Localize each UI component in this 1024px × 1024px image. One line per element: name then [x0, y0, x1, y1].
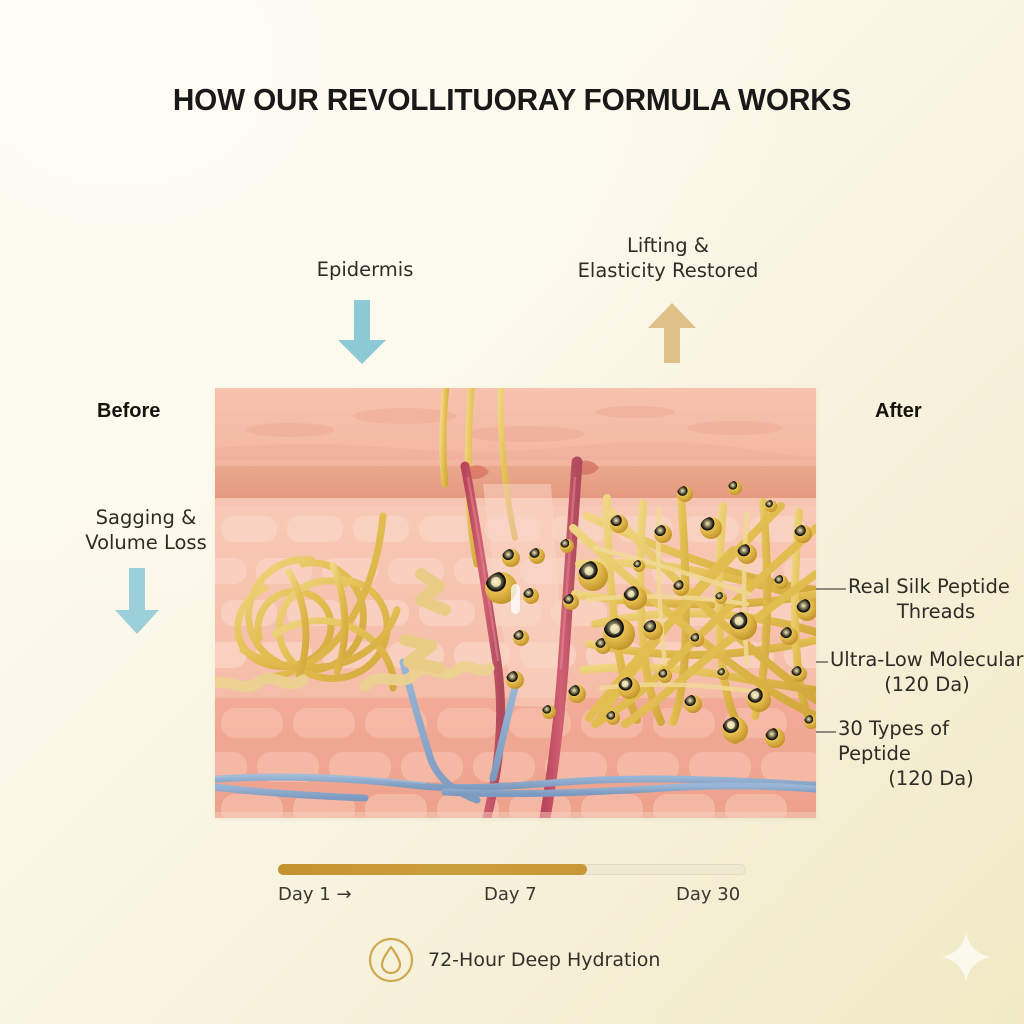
- timeline-track[interactable]: [278, 864, 746, 875]
- lifting-label-line2: Elasticity Restored: [578, 259, 759, 282]
- skin-cross-section-diagram: [215, 388, 816, 818]
- callout-1-line1: Real Silk Peptide: [848, 575, 1010, 598]
- timeline-label-day30: Day 30: [676, 884, 740, 905]
- timeline-label-day1: Day 1 →: [278, 884, 352, 905]
- callout-1-line2: Threads: [848, 599, 1024, 624]
- lifting-label: Lifting & Elasticity Restored: [573, 233, 763, 283]
- lifting-label-line1: Lifting &: [627, 234, 709, 257]
- callout-1: Real Silk Peptide Threads: [848, 574, 1024, 624]
- hydration-badge-label: 72-Hour Deep Hydration: [428, 949, 660, 971]
- epidermis-down-arrow: [336, 300, 388, 366]
- water-drop-icon: [368, 937, 414, 983]
- lifting-up-arrow: [646, 303, 698, 365]
- timeline-labels: Day 1 → Day 7 Day 30: [278, 884, 746, 910]
- sagging-label: Sagging & Volume Loss: [76, 505, 216, 555]
- sagging-label-line1: Sagging &: [96, 506, 197, 529]
- timeline-label-day7: Day 7: [484, 884, 537, 905]
- page-title: HOW OUR REVOLLITUORAY FORMULA WORKS: [20, 82, 1003, 118]
- hydration-badge: 72-Hour Deep Hydration: [368, 937, 660, 983]
- callout-2-line1: Ultra-Low Molecular: [830, 648, 1024, 671]
- callout-3-line2: (120 Da): [838, 766, 1024, 791]
- before-label: Before: [97, 400, 160, 423]
- epidermis-label: Epidermis: [310, 257, 420, 282]
- callout-3: 30 Types of Peptide (120 Da): [838, 716, 1024, 791]
- sparkle-icon: [939, 930, 993, 984]
- callout-3-line1: 30 Types of Peptide: [838, 717, 949, 765]
- after-label: After: [875, 400, 922, 423]
- infographic-page: HOW OUR REVOLLITUORAY FORMULA WORKS Epid…: [0, 0, 1024, 1024]
- timeline: Day 1 → Day 7 Day 30: [278, 864, 746, 910]
- callout-2: Ultra-Low Molecular (120 Da): [830, 647, 1024, 697]
- sagging-label-line2: Volume Loss: [85, 531, 207, 554]
- sagging-down-arrow: [113, 568, 161, 636]
- callout-2-line2: (120 Da): [830, 672, 1024, 697]
- timeline-progress-fill: [278, 864, 587, 875]
